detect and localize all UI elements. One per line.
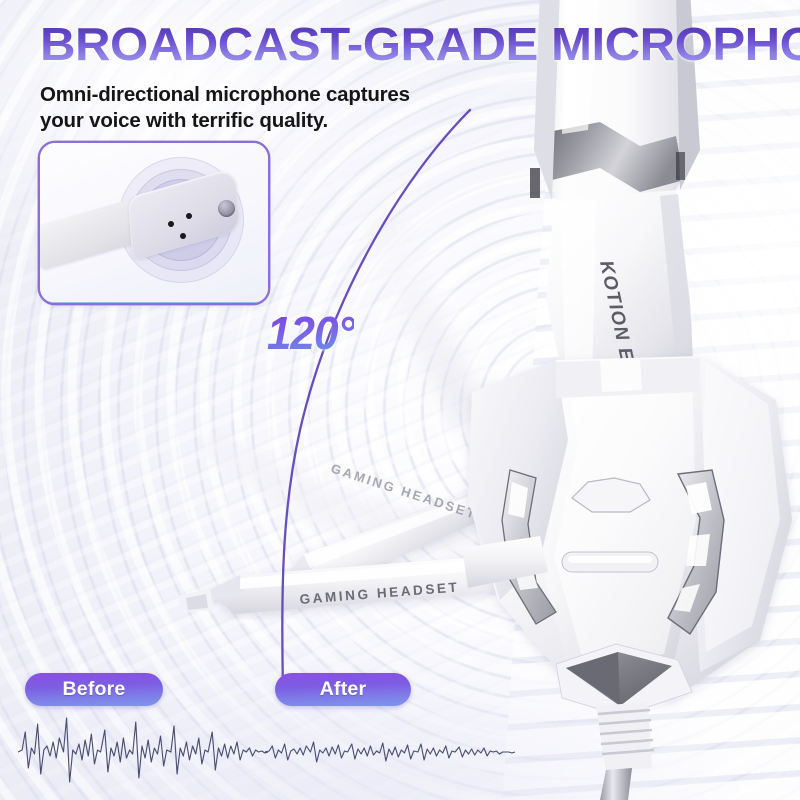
mic-capsule-head	[128, 167, 240, 261]
microphone-capsule-closeup-panel	[40, 143, 268, 303]
status-badge-before: Before	[25, 673, 163, 706]
boom-motion-ghost	[368, 206, 487, 430]
sound-ring-inner	[140, 179, 222, 261]
rotation-angle-label: 120°	[267, 306, 355, 360]
mic-boom-closeup	[40, 176, 224, 271]
sound-ring-outer	[118, 157, 244, 283]
waveform-after	[265, 718, 515, 786]
page-subtitle: Omni-directional microphone captures you…	[40, 82, 510, 134]
status-badge-after: After	[275, 673, 411, 706]
waveform-before	[18, 712, 268, 792]
cable-strain-relief	[596, 702, 654, 772]
mic-hole-icon	[180, 233, 186, 239]
mic-hole-icon	[186, 213, 192, 219]
mic-button-icon	[218, 200, 235, 217]
sound-ring-middle	[130, 169, 232, 271]
subtitle-line-1: Omni-directional microphone captures	[40, 82, 510, 108]
cable	[600, 768, 632, 800]
cable-assembly	[556, 644, 692, 800]
subtitle-line-2: your voice with terrific quality.	[40, 108, 510, 134]
product-marketing-image: GAMING HEADSET GAMING HEADSET KOTION EAC…	[0, 0, 800, 800]
mic-hole-icon	[168, 221, 174, 227]
page-title: BROADCAST-GRADE MICROPHONE	[40, 20, 800, 68]
